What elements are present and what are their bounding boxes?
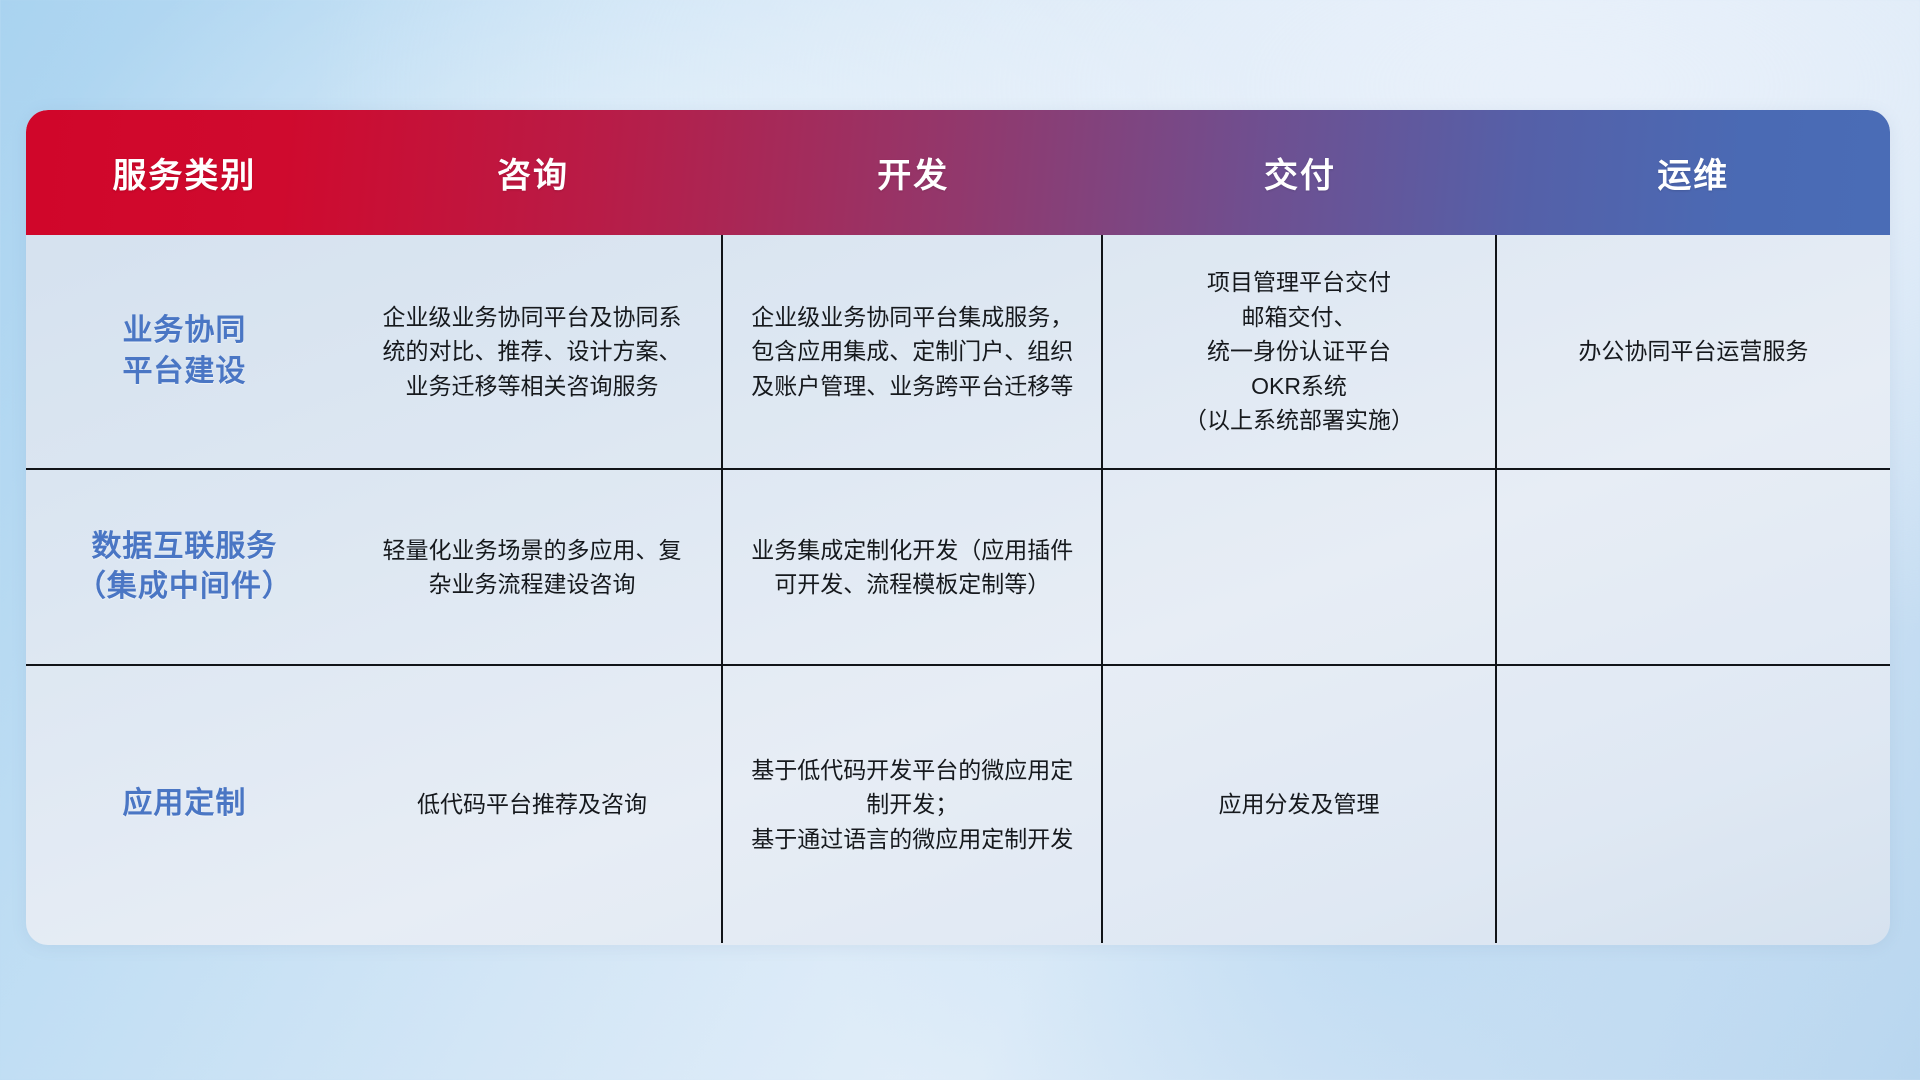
row-label-application-customization: 应用定制 — [26, 666, 343, 943]
cell-operations-data-integration — [1497, 470, 1890, 664]
column-header-consulting: 咨询 — [343, 110, 723, 235]
cell-consulting-data-integration: 轻量化业务场景的多应用、复 杂业务流程建设咨询 — [343, 470, 723, 664]
table-body: 业务协同 平台建设 企业级业务协同平台及协同系 统的对比、推荐、设计方案、 业务… — [26, 235, 1890, 943]
cell-operations-application-customization — [1497, 666, 1890, 943]
cell-development-data-integration: 业务集成定制化开发（应用插件 可开发、流程模板定制等） — [723, 470, 1103, 664]
table-row: 数据互联服务 （集成中间件） 轻量化业务场景的多应用、复 杂业务流程建设咨询 业… — [26, 470, 1890, 666]
cell-consulting-application-customization: 低代码平台推荐及咨询 — [343, 666, 723, 943]
table-row: 业务协同 平台建设 企业级业务协同平台及协同系 统的对比、推荐、设计方案、 业务… — [26, 235, 1890, 470]
cell-delivery-application-customization: 应用分发及管理 — [1103, 666, 1496, 943]
column-header-development: 开发 — [723, 110, 1103, 235]
service-matrix-table: 服务类别 咨询 开发 交付 运维 业务协同 平台建设 企业级业务协同平台及协同系… — [26, 110, 1890, 945]
cell-delivery-data-integration — [1103, 470, 1496, 664]
cell-operations-business-collaboration: 办公协同平台运营服务 — [1497, 235, 1890, 468]
row-label-data-integration: 数据互联服务 （集成中间件） — [26, 470, 343, 664]
cell-consulting-business-collaboration: 企业级业务协同平台及协同系 统的对比、推荐、设计方案、 业务迁移等相关咨询服务 — [343, 235, 723, 468]
table-row: 应用定制 低代码平台推荐及咨询 基于低代码开发平台的微应用定 制开发； 基于通过… — [26, 666, 1890, 943]
cell-development-business-collaboration: 企业级业务协同平台集成服务， 包含应用集成、定制门户、组织 及账户管理、业务跨平… — [723, 235, 1103, 468]
column-header-operations: 运维 — [1497, 110, 1890, 235]
cell-development-application-customization: 基于低代码开发平台的微应用定 制开发； 基于通过语言的微应用定制开发 — [723, 666, 1103, 943]
row-label-business-collaboration: 业务协同 平台建设 — [26, 235, 343, 468]
table-header-row: 服务类别 咨询 开发 交付 运维 — [26, 110, 1890, 235]
column-header-delivery: 交付 — [1103, 110, 1496, 235]
cell-delivery-business-collaboration: 项目管理平台交付 邮箱交付、 统一身份认证平台 OKR系统 （以上系统部署实施） — [1103, 235, 1496, 468]
column-header-category: 服务类别 — [26, 110, 343, 235]
